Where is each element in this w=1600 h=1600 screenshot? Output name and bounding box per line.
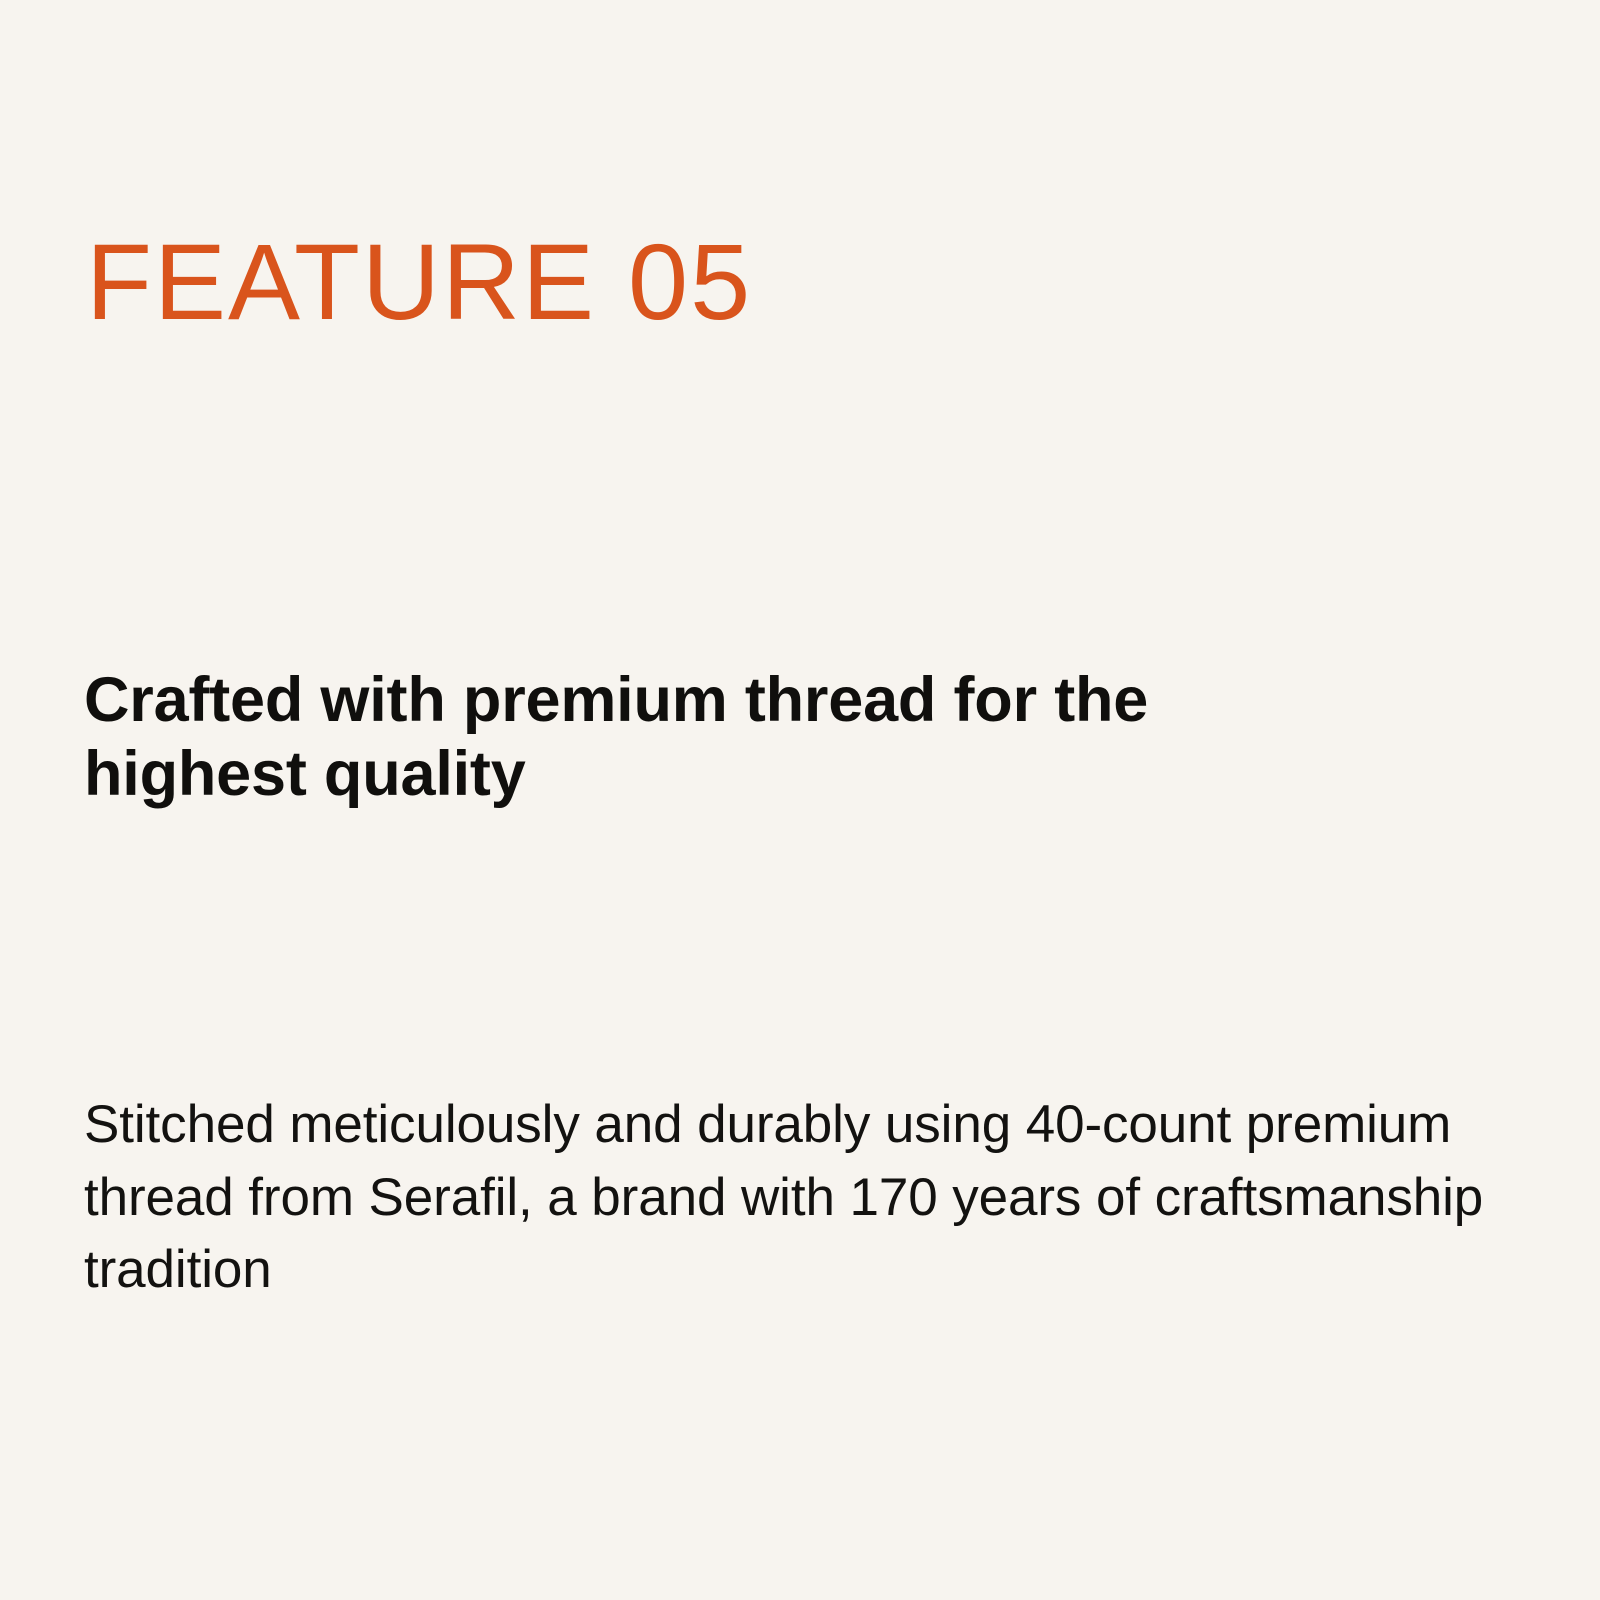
feature-eyebrow-label: FEATURE 05 [86,228,752,336]
feature-headline: Crafted with premium thread for the high… [84,664,1374,811]
feature-body-text: Stitched meticulously and durably using … [84,1089,1534,1307]
feature-card: FEATURE 05 Crafted with premium thread f… [0,0,1600,1600]
